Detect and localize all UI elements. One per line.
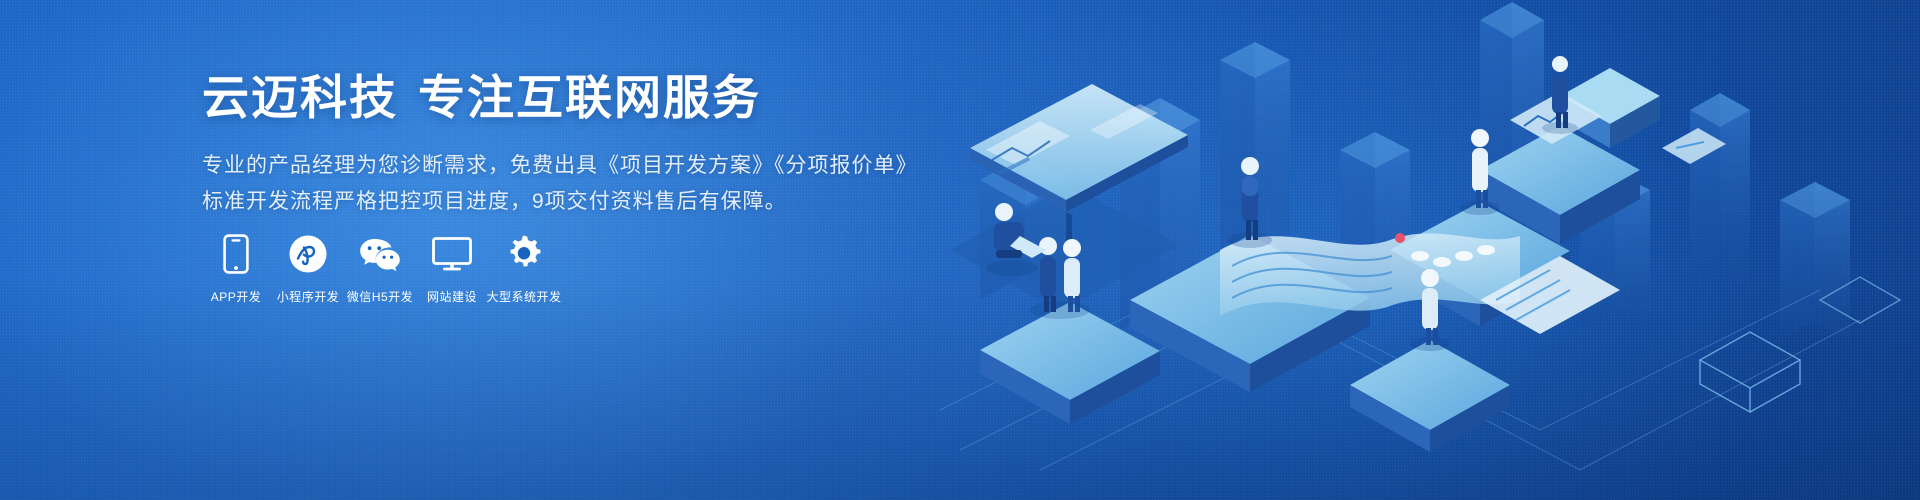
dashboard-screen	[950, 84, 1188, 312]
headline-brand: 云迈科技	[202, 71, 398, 124]
chart-card	[1510, 0, 1602, 144]
standing-people	[1030, 56, 1578, 351]
monitor-icon	[432, 233, 472, 275]
subtitle-line-2: 标准开发流程严格把控项目进度，9项交付资料售后有保障。	[202, 184, 962, 220]
isometric-illustration	[920, 0, 1920, 500]
person-pair-left	[1030, 237, 1090, 319]
headline-tagline: 专注互联网服务	[418, 71, 761, 124]
person-right-high	[1542, 56, 1578, 134]
service-item-large-system[interactable]: 大型系统开发	[488, 233, 560, 305]
service-label: APP开发	[211, 288, 262, 305]
hero-banner: 云迈科技专注互联网服务 专业的产品经理为您诊断需求，免费出具《项目开发方案》《分…	[0, 0, 1920, 500]
service-item-mini-program[interactable]: 小程序开发	[272, 233, 344, 305]
service-label: 微信H5开发	[347, 288, 413, 305]
mobile-phone-icon	[223, 233, 249, 275]
service-item-website[interactable]: 网站建设	[416, 233, 488, 305]
gear-icon	[504, 233, 544, 275]
person-front-right	[1410, 269, 1450, 351]
service-list: APP开发 小程序开发	[200, 233, 560, 305]
service-item-wechat-h5[interactable]: 微信H5开发	[344, 233, 416, 305]
service-label: 大型系统开发	[487, 288, 562, 305]
seated-person-laptop	[986, 203, 1046, 276]
person-right-low	[1460, 129, 1500, 215]
mini-program-icon	[288, 233, 328, 275]
service-label: 网站建设	[427, 288, 477, 305]
page-title: 云迈科技专注互联网服务	[202, 70, 962, 126]
flowing-data-sheet	[1220, 233, 1520, 316]
background-towers	[980, 2, 1850, 340]
subtitle-line-1: 专业的产品经理为您诊断需求，免费出具《项目开发方案》《分项报价单》	[202, 148, 962, 184]
data-list-panel	[1480, 256, 1620, 334]
wechat-icon	[358, 233, 402, 275]
ground-grid	[940, 270, 1860, 470]
service-item-app[interactable]: APP开发	[200, 233, 272, 305]
platform-blocks	[980, 68, 1900, 452]
banner-copy: 云迈科技专注互联网服务 专业的产品经理为您诊断需求，免费出具《项目开发方案》《分…	[202, 70, 962, 220]
person-center	[1228, 157, 1272, 248]
floating-tag	[1662, 128, 1726, 164]
service-label: 小程序开发	[277, 288, 340, 305]
